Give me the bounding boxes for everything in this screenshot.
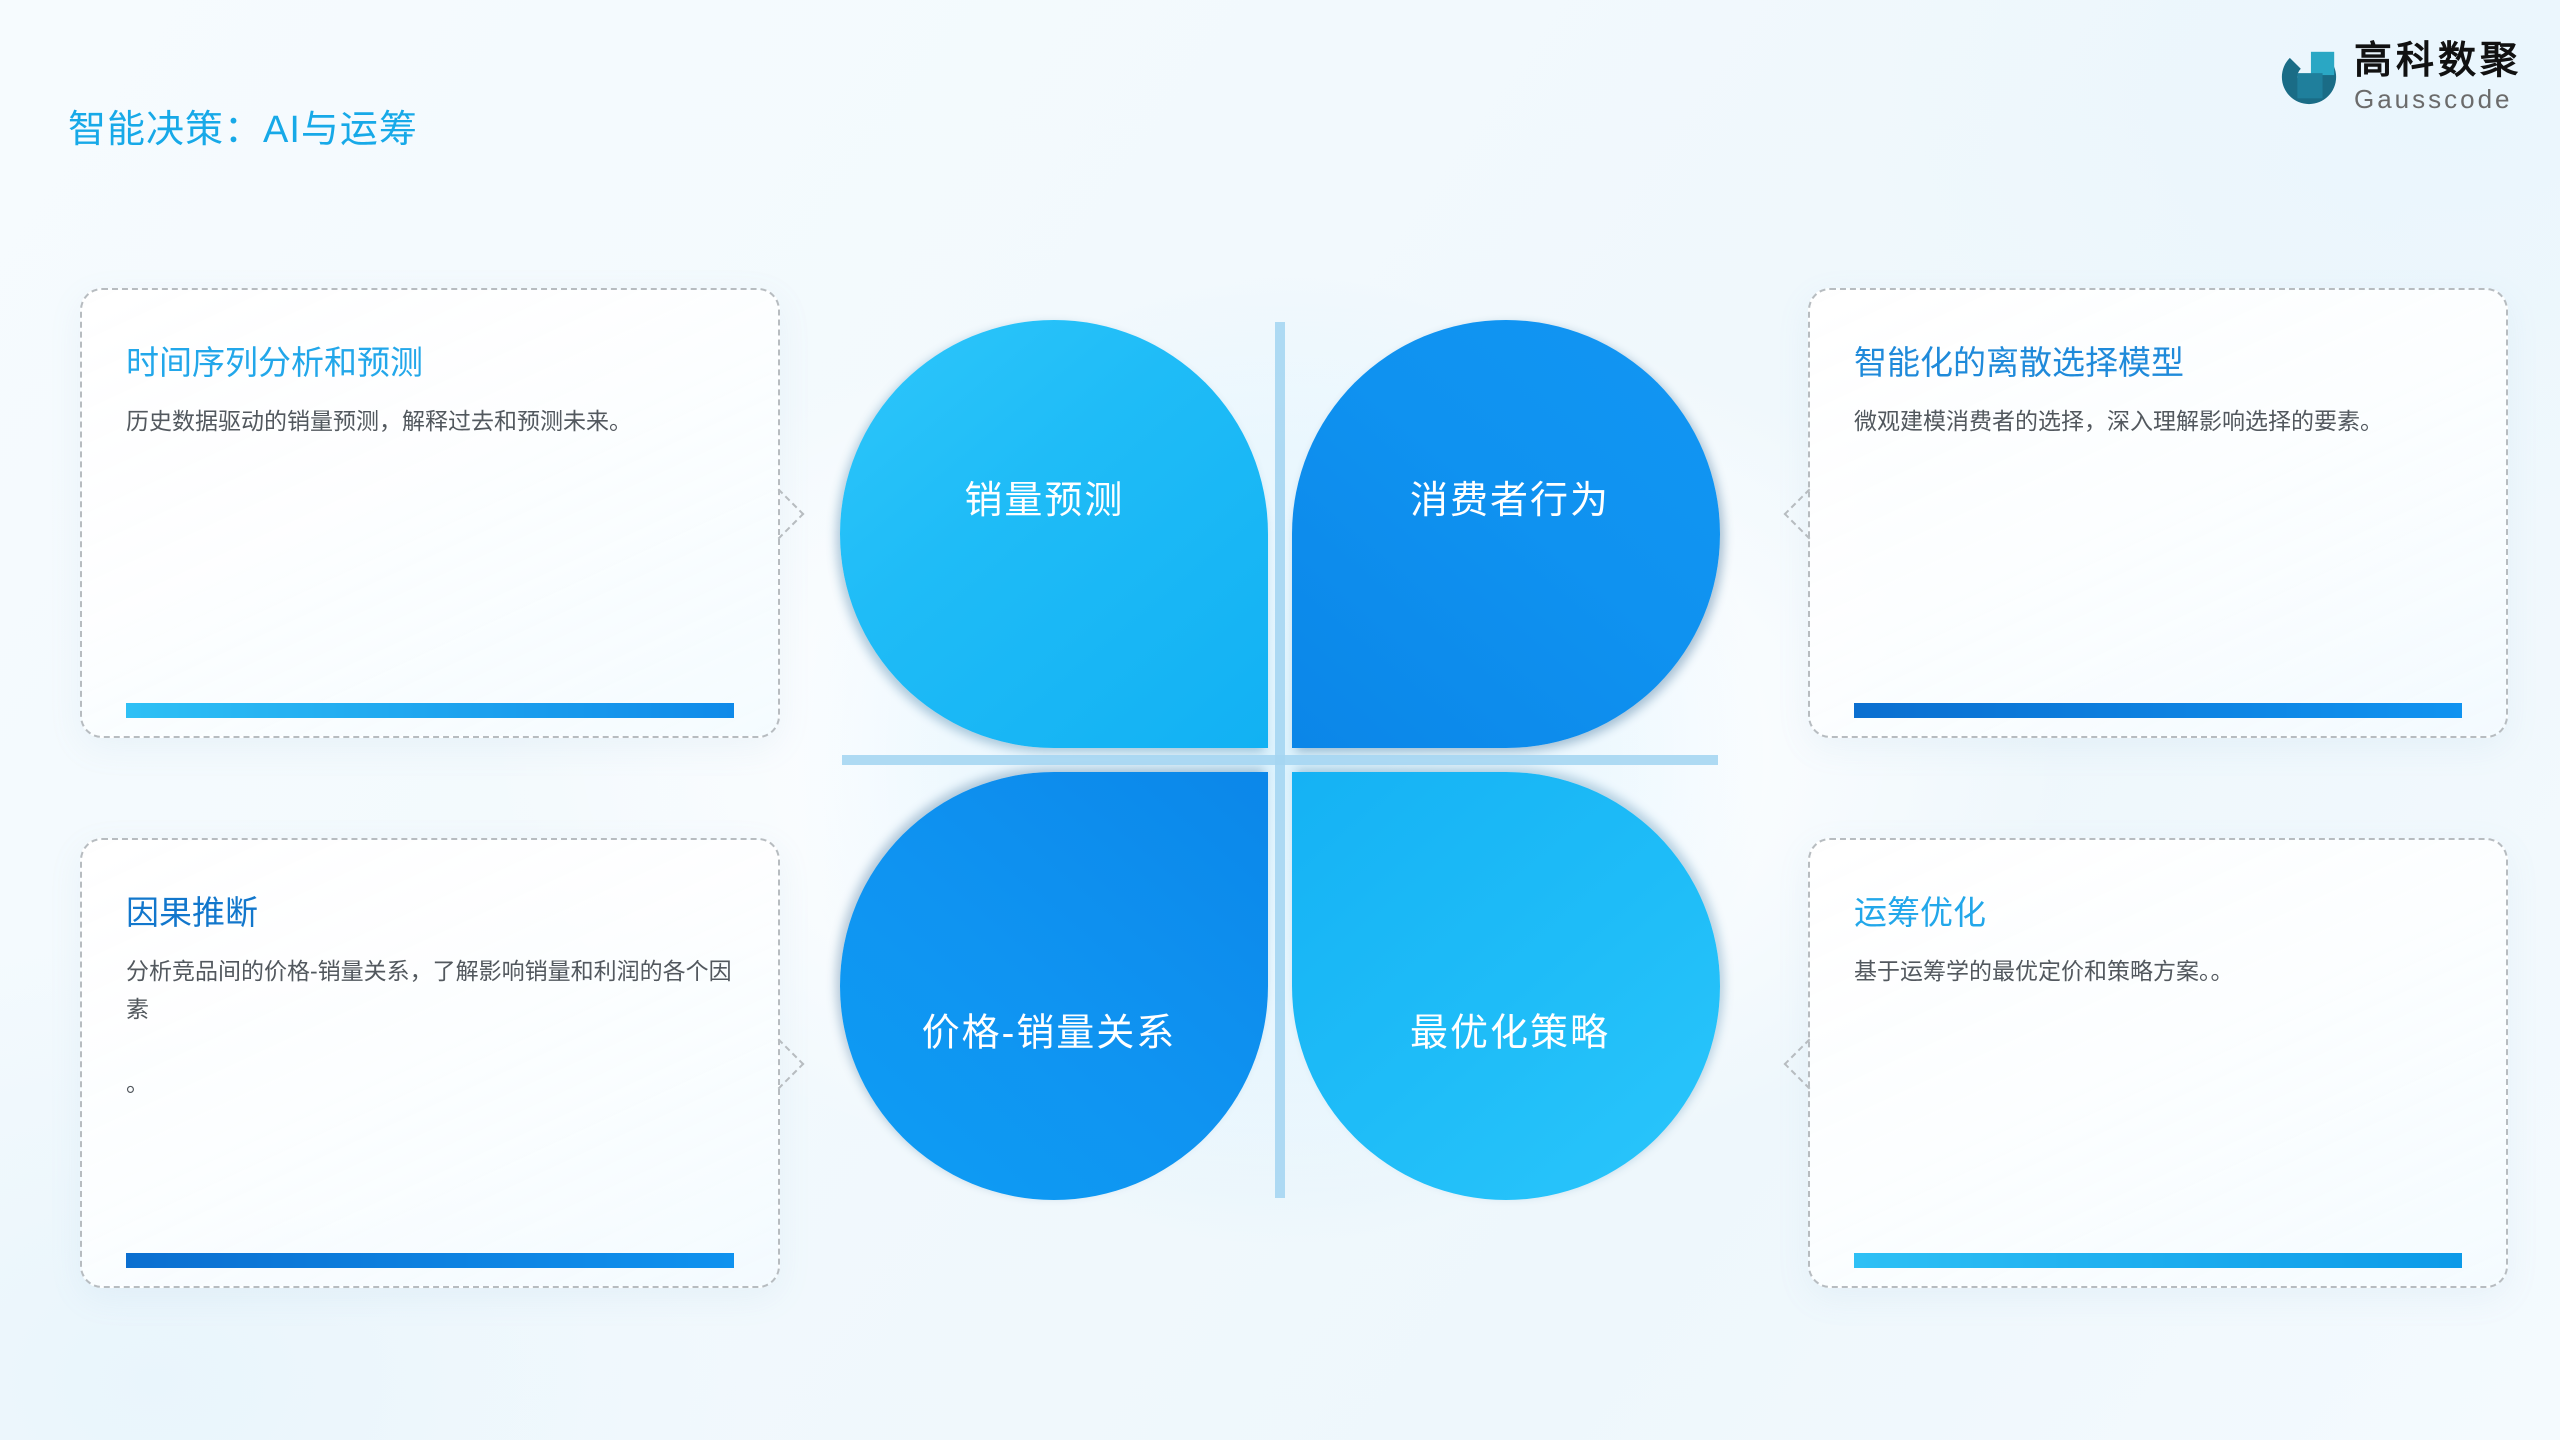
- petal-optimal-strategy[interactable]: 最优化策略: [1292, 772, 1720, 1200]
- card-accent-bar: [1854, 703, 2462, 718]
- card-content: 因果推断 分析竞品间的价格-销量关系，了解影响销量和利润的各个因素 。: [82, 840, 778, 1286]
- info-card-causal-inference[interactable]: 因果推断 分析竞品间的价格-销量关系，了解影响销量和利润的各个因素 。: [80, 838, 780, 1288]
- logo-english-name: Gausscode: [2354, 86, 2522, 112]
- card-title: 时间序列分析和预测: [126, 342, 738, 383]
- card-content: 时间序列分析和预测 历史数据驱动的销量预测，解释过去和预测未来。: [82, 290, 778, 736]
- info-card-operations-research[interactable]: 运筹优化 基于运筹学的最优定价和策略方案。。: [1808, 838, 2508, 1288]
- card-accent-bar: [126, 1253, 734, 1268]
- petal-label: 销量预测: [964, 469, 1124, 524]
- card-body: 分析竞品间的价格-销量关系，了解影响销量和利润的各个因素 。: [126, 953, 738, 1102]
- slide-root: 智能决策：AI与运筹 高科数聚 Gausscode 时间序列分析和预测 历史数据…: [0, 0, 2560, 1440]
- quadrant-flower-diagram: 销量预测 消费者行为 价格-销量关系 最优化策略: [840, 320, 1720, 1200]
- logo-text-block: 高科数聚 Gausscode: [2354, 42, 2522, 112]
- petal-seam-vertical: [1275, 322, 1285, 1198]
- card-content: 智能化的离散选择模型 微观建模消费者的选择，深入理解影响选择的要素。: [1810, 290, 2506, 736]
- card-title: 智能化的离散选择模型: [1854, 342, 2466, 383]
- card-body: 微观建模消费者的选择，深入理解影响选择的要素。: [1854, 403, 2466, 440]
- petal-label: 消费者行为: [1410, 469, 1610, 524]
- info-card-discrete-choice[interactable]: 智能化的离散选择模型 微观建模消费者的选择，深入理解影响选择的要素。: [1808, 288, 2508, 738]
- card-body: 基于运筹学的最优定价和策略方案。。: [1854, 953, 2466, 990]
- info-card-time-series[interactable]: 时间序列分析和预测 历史数据驱动的销量预测，解释过去和预测未来。: [80, 288, 780, 738]
- card-title: 运筹优化: [1854, 892, 2466, 933]
- card-accent-bar: [1854, 1253, 2462, 1268]
- gausscode-logo-icon: [2278, 46, 2340, 108]
- brand-logo: 高科数聚 Gausscode: [2278, 42, 2522, 112]
- card-body: 历史数据驱动的销量预测，解释过去和预测未来。: [126, 403, 738, 440]
- petal-label: 最优化策略: [1410, 1001, 1610, 1056]
- petal-price-sales-relation[interactable]: 价格-销量关系: [840, 772, 1268, 1200]
- petal-consumer-behavior[interactable]: 消费者行为: [1292, 320, 1720, 748]
- page-title: 智能决策：AI与运筹: [68, 108, 418, 154]
- card-accent-bar: [126, 703, 734, 718]
- petal-seam-horizontal: [842, 755, 1718, 765]
- card-title: 因果推断: [126, 892, 738, 933]
- logo-chinese-name: 高科数聚: [2354, 42, 2522, 80]
- petal-label: 价格-销量关系: [922, 1001, 1177, 1056]
- petal-sales-forecast[interactable]: 销量预测: [840, 320, 1268, 748]
- card-content: 运筹优化 基于运筹学的最优定价和策略方案。。: [1810, 840, 2506, 1286]
